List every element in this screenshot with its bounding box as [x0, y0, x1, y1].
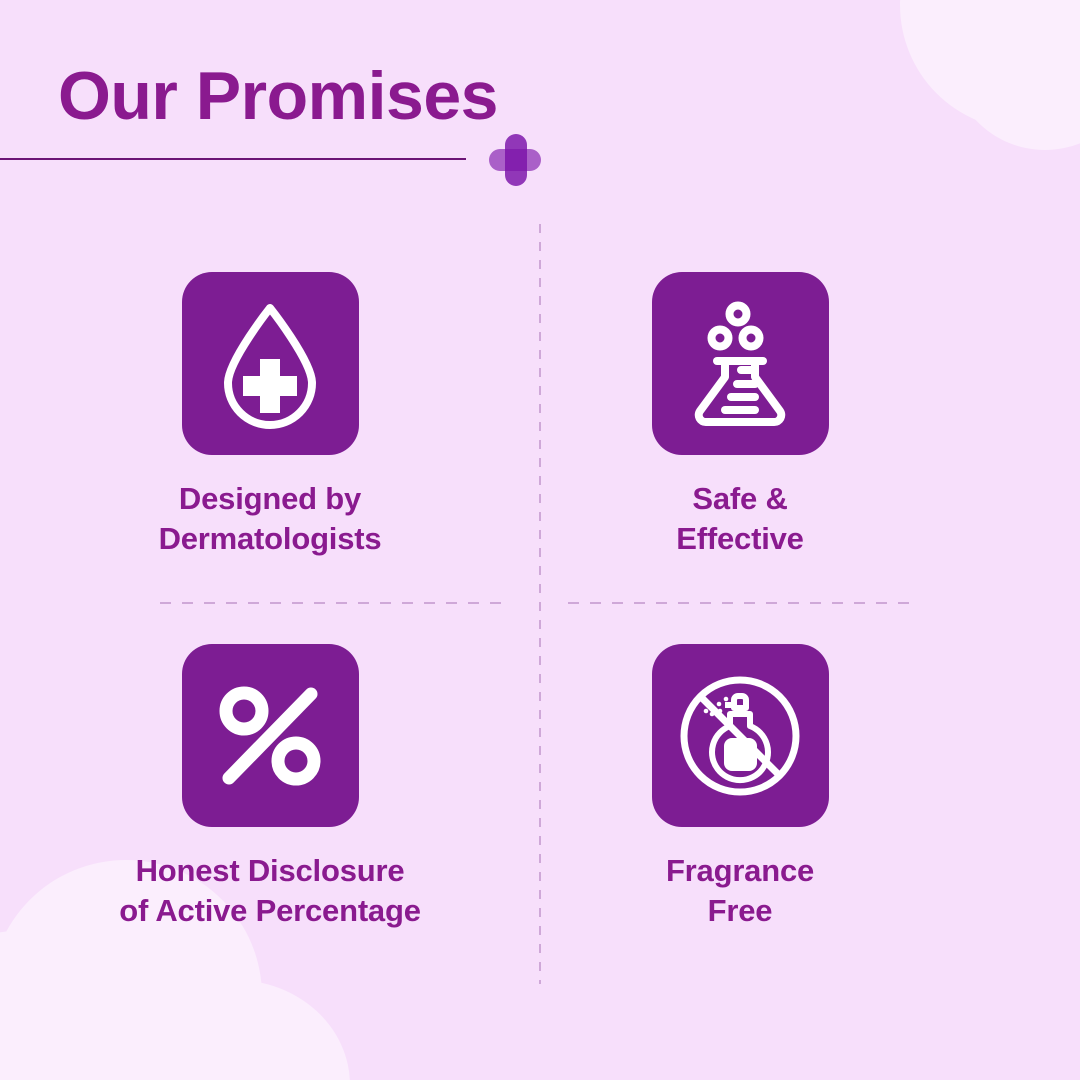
percent-icon — [214, 682, 326, 790]
icon-tile-droplet-plus — [182, 272, 359, 455]
promise-item-fragrance-free: Fragrance Free — [505, 644, 975, 930]
promise-item-designed-by-dermatologists: Designed by Dermatologists — [35, 272, 505, 558]
flask-icon — [681, 298, 799, 430]
promise-label: Designed by Dermatologists — [159, 479, 382, 558]
background-blob-bottom-left-c — [120, 980, 350, 1080]
icon-tile-no-fragrance — [652, 644, 829, 827]
promise-item-honest-disclosure: Honest Disclosure of Active Percentage — [35, 644, 505, 930]
promise-grid: Designed by Dermatologists — [0, 224, 1080, 984]
plus-decoration-icon — [489, 134, 541, 186]
header: Our Promises — [0, 62, 560, 130]
plus-decoration-vertical-bar — [505, 134, 527, 186]
promise-item-safe-and-effective: Safe & Effective — [505, 272, 975, 558]
droplet-plus-icon — [211, 299, 329, 429]
promise-label: Fragrance Free — [666, 851, 814, 930]
page-title: Our Promises — [0, 62, 560, 130]
promise-label: Safe & Effective — [676, 479, 803, 558]
title-underline-rule — [0, 158, 466, 160]
no-fragrance-icon — [676, 672, 804, 800]
grid-divider-horizontal-right — [568, 602, 920, 604]
icon-tile-percent — [182, 644, 359, 827]
background-blob-top-right-b — [950, 0, 1080, 150]
icon-tile-flask — [652, 272, 829, 455]
promise-label: Honest Disclosure of Active Percentage — [119, 851, 421, 930]
grid-divider-horizontal-left — [160, 602, 508, 604]
background-blob-top-right-a — [900, 0, 1080, 130]
promises-poster: Our Promises Designed by Dermatologists — [0, 0, 1080, 1080]
